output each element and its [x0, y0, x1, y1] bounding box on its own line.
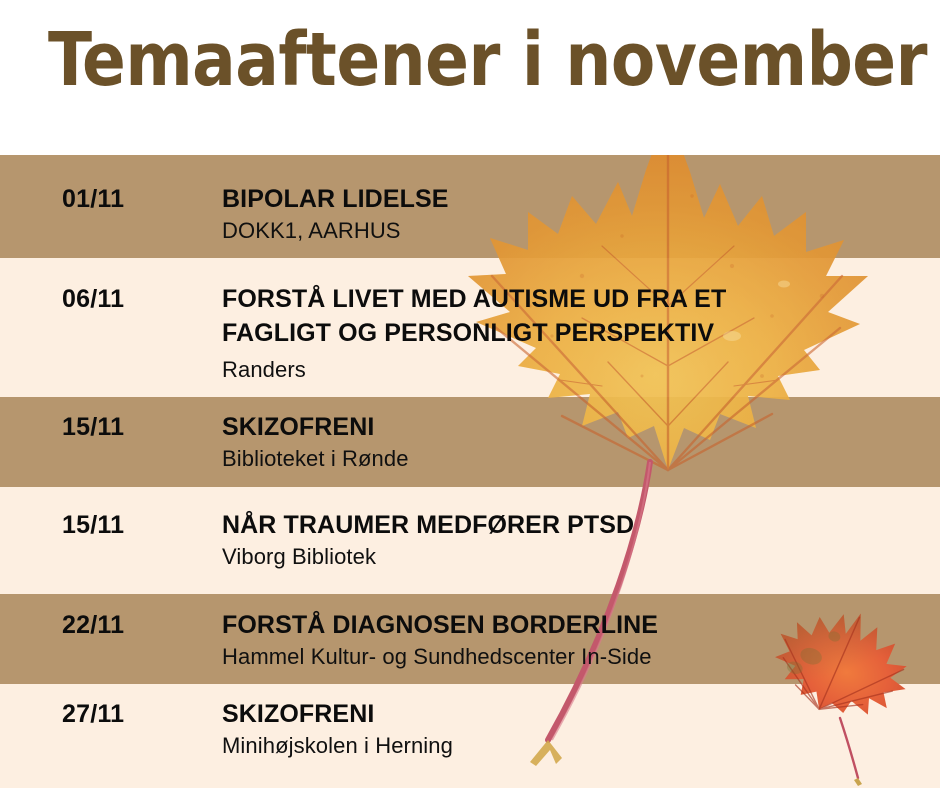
- leaf-stem-icon: [500, 440, 760, 780]
- large-maple-leaf-icon: [432, 126, 902, 486]
- stripe-row-4: [0, 487, 940, 594]
- poster-root: Temaaftener i november 01/11 BIPOLAR LID…: [0, 0, 940, 788]
- page-title: Temaaftener i november: [48, 22, 927, 100]
- small-maple-leaf-icon: [772, 608, 908, 788]
- title-band: Temaaftener i november: [0, 0, 940, 155]
